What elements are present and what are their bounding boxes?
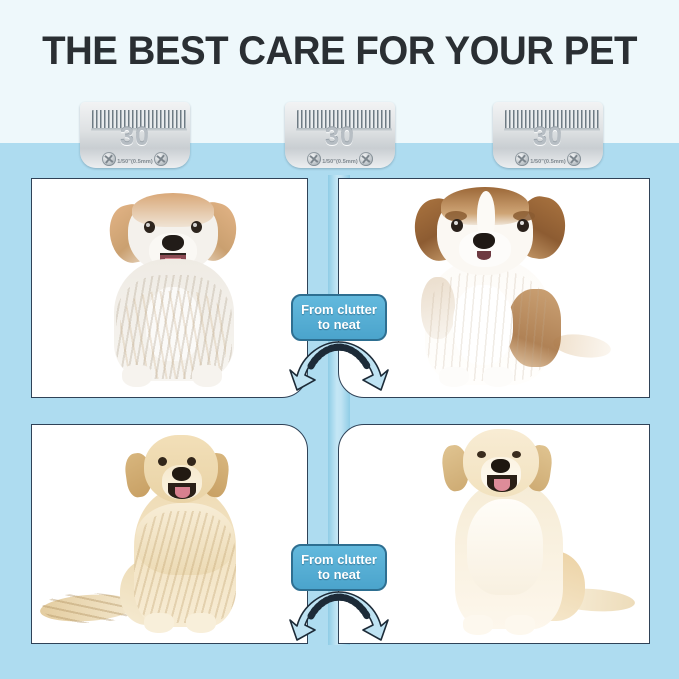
dog-paw bbox=[505, 615, 535, 635]
dog-eye bbox=[517, 219, 529, 232]
dog-paw bbox=[439, 367, 469, 387]
dog-tongue bbox=[494, 479, 510, 491]
dog-paw bbox=[144, 613, 174, 633]
blade-body: 30 1/50"(0.5mm) bbox=[285, 102, 395, 168]
dog-nose bbox=[491, 459, 510, 473]
dog-photo-groomed-havanese bbox=[399, 185, 577, 391]
dog-paw bbox=[192, 365, 222, 387]
callout-bubble: From clutter to neat bbox=[291, 294, 387, 341]
dog-nose bbox=[172, 467, 191, 481]
blade-size-label: 30 bbox=[285, 124, 395, 151]
blade-spec-label: 1/50"(0.5mm) bbox=[80, 159, 190, 166]
dog-paw bbox=[463, 615, 493, 635]
dog-eye bbox=[158, 457, 167, 466]
dog-nose bbox=[162, 235, 184, 251]
curved-arrow-icon bbox=[289, 336, 389, 392]
curved-arrow-icon bbox=[289, 586, 389, 642]
dog-paw bbox=[122, 365, 152, 387]
dog-eye bbox=[144, 221, 155, 233]
blade-spec-label: 1/50"(0.5mm) bbox=[285, 159, 395, 166]
dog-fur-texture bbox=[427, 271, 549, 381]
dog-eye bbox=[477, 451, 486, 458]
clipper-blade-left: 30 1/50"(0.5mm) bbox=[76, 88, 194, 170]
callout-row2: From clutter to neat bbox=[291, 544, 387, 591]
dog-eye bbox=[191, 221, 202, 233]
blade-spec-label: 1/50"(0.5mm) bbox=[493, 159, 603, 166]
panel-row2-before bbox=[31, 424, 308, 644]
page-title: THE BEST CARE FOR YOUR PET bbox=[14, 28, 666, 74]
callout-line1: From clutter bbox=[297, 552, 381, 567]
product-infographic: THE BEST CARE FOR YOUR PET 30 1/50"(0.5m… bbox=[0, 0, 679, 679]
blade-body: 30 1/50"(0.5mm) bbox=[493, 102, 603, 168]
dog-nose bbox=[473, 233, 495, 249]
blade-size-label: 30 bbox=[493, 124, 603, 151]
dog-photo-shaggy-terrier bbox=[92, 191, 252, 391]
blade-body: 30 1/50"(0.5mm) bbox=[80, 102, 190, 168]
dog-fur-texture bbox=[134, 511, 236, 623]
callout-line2: to neat bbox=[297, 567, 381, 582]
dog-eye bbox=[451, 219, 463, 232]
dog-tongue bbox=[175, 487, 190, 498]
clipper-blade-center: 30 1/50"(0.5mm) bbox=[281, 88, 399, 170]
blade-size-label: 30 bbox=[80, 124, 190, 151]
callout-row1: From clutter to neat bbox=[291, 294, 387, 341]
dog-crown bbox=[132, 193, 214, 227]
dog-chest bbox=[467, 499, 543, 595]
dog-paw bbox=[483, 367, 513, 387]
dog-photo-groomed-golden-retriever bbox=[405, 429, 591, 639]
callout-line2: to neat bbox=[297, 317, 381, 332]
clipper-blade-right: 30 1/50"(0.5mm) bbox=[489, 88, 607, 170]
dog-paw bbox=[186, 613, 216, 633]
panel-row1-before bbox=[31, 178, 308, 398]
callout-line1: From clutter bbox=[297, 302, 381, 317]
dog-mouth bbox=[477, 251, 491, 260]
callout-bubble: From clutter to neat bbox=[291, 544, 387, 591]
dog-photo-shaggy-golden-retriever bbox=[82, 433, 270, 639]
blade-row: 30 1/50"(0.5mm) 30 1/50"(0.5mm) 30 1/5 bbox=[0, 88, 679, 172]
dog-eye bbox=[512, 451, 521, 458]
